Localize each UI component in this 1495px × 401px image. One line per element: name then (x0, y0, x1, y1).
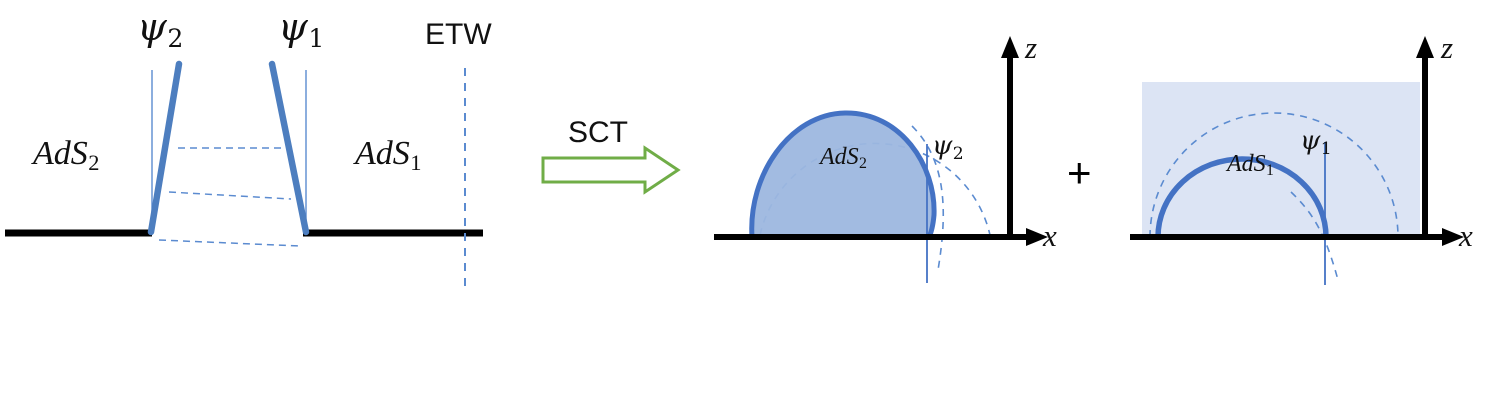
brane-psi2-wall (151, 64, 179, 232)
left-ads2-base: AdS (33, 135, 88, 172)
ads2-filled-dome (752, 113, 934, 237)
left-psi1-sub: 1 (308, 24, 324, 53)
middle-psi2-base: ψ (932, 131, 952, 161)
middle-panel-group (714, 36, 1048, 283)
left-ads2-label: AdS2 (33, 137, 99, 171)
sct-arrow-group (543, 148, 678, 192)
right-psi1-base: ψ (1300, 126, 1320, 156)
right-ads1-base: AdS (1227, 151, 1266, 177)
right-z-axis-arrowhead (1416, 36, 1434, 58)
right-psi1-sub: 1 (1320, 139, 1331, 159)
left-panel-group (5, 64, 483, 292)
ads1-bulk-region-rect (1142, 82, 1420, 237)
sct-label: SCT (568, 118, 628, 148)
right-x-axis-label: x (1459, 220, 1473, 251)
left-psi2-sub: 2 (167, 24, 183, 53)
left-psi2-label: ψ2 (137, 8, 183, 46)
middle-z-axis-arrowhead (1001, 36, 1019, 58)
rung-line-bottom (159, 240, 300, 246)
left-ads2-sub: 2 (88, 150, 100, 175)
figure-canvas (0, 0, 1495, 401)
right-psi1-label: ψ1 (1300, 128, 1332, 154)
middle-psi2-sub: 2 (952, 144, 963, 164)
left-ads1-label: AdS1 (355, 137, 421, 171)
right-z-axis-label: z (1441, 32, 1453, 63)
right-panel-group (1130, 36, 1464, 285)
left-ads1-sub: 1 (410, 150, 422, 175)
middle-z-axis-label: z (1025, 32, 1037, 63)
rung-line-middle (169, 192, 291, 199)
figure-root: ψ2 ψ1 ETW AdS2 AdS1 SCT AdS2 ψ2 x z + Ad… (0, 0, 1495, 401)
left-psi2-base: ψ (137, 5, 167, 49)
sct-block-arrow-shape (543, 148, 678, 192)
right-ads1-sub: 1 (1266, 162, 1274, 179)
plus-operator: + (1067, 152, 1092, 194)
middle-ads2-base: AdS (820, 144, 859, 170)
middle-ads2-label: AdS2 (820, 145, 867, 169)
etw-label: ETW (425, 20, 492, 50)
right-ads1-label: AdS1 (1227, 152, 1274, 176)
middle-ads2-sub: 2 (859, 155, 867, 172)
left-ads1-base: AdS (355, 135, 410, 172)
middle-psi2-label: ψ2 (932, 133, 964, 159)
left-psi1-base: ψ (278, 5, 308, 49)
middle-x-axis-label: x (1043, 220, 1057, 251)
left-psi1-label: ψ1 (278, 8, 324, 46)
